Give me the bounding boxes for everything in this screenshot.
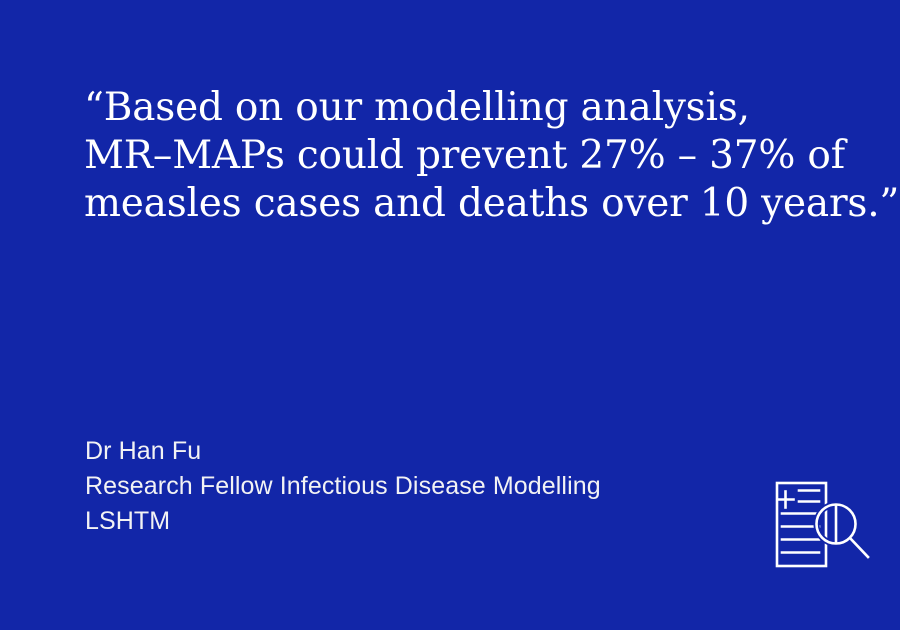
quote-block: “Based on our modelling analysis, MR–MAP… xyxy=(84,84,824,228)
quote-line-2: MR–MAPs could prevent 27% – 37% of xyxy=(84,132,824,180)
quote-line-1: “Based on our modelling analysis, xyxy=(84,84,824,132)
attribution-organisation: LSHTM xyxy=(85,504,745,539)
quote-line-3: measles cases and deaths over 10 years.” xyxy=(84,180,824,228)
attribution-block: Dr Han Fu Research Fellow Infectious Dis… xyxy=(85,434,745,539)
attribution-name: Dr Han Fu xyxy=(85,434,745,469)
document-search-icon xyxy=(768,472,878,572)
attribution-role: Research Fellow Infectious Disease Model… xyxy=(85,469,745,504)
magnifier-handle-icon xyxy=(850,538,868,557)
quote-slide: “Based on our modelling analysis, MR–MAP… xyxy=(0,0,900,630)
